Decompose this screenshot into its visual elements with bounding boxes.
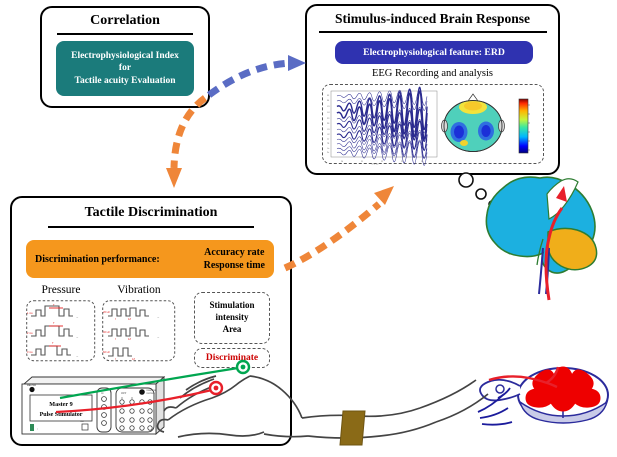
anatomy-illustration <box>0 0 617 457</box>
spinal-cord-cross-section <box>480 367 608 423</box>
red-electrode-wire <box>56 390 212 412</box>
brain-illustration <box>486 177 596 300</box>
electrode-wires <box>56 361 249 412</box>
thought-bubbles <box>459 173 495 207</box>
